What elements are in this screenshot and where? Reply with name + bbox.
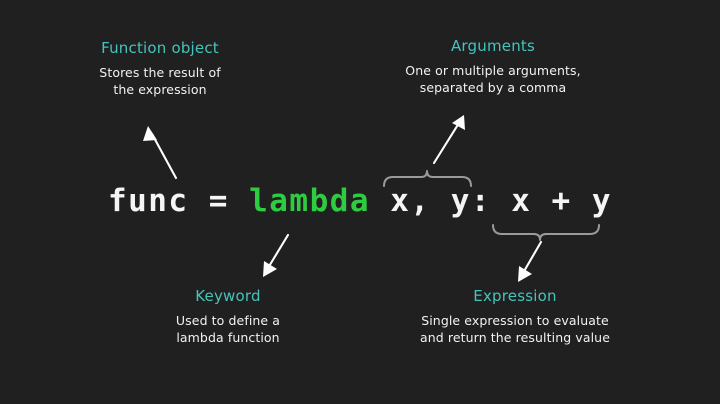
annotation-heading-expression: Expression	[386, 286, 644, 306]
annotation-description-arguments: One or multiple arguments, separated by …	[368, 63, 618, 97]
annotation-heading-function-object: Function object	[40, 38, 280, 58]
annotation-description-keyword: Used to define a lambda function	[128, 313, 328, 347]
expression-brace	[493, 225, 599, 240]
description-line: separated by a comma	[368, 80, 618, 97]
annotation-function-object: Function object Stores the result of the…	[40, 38, 280, 99]
code-keyword-lambda: lambda	[249, 183, 370, 219]
annotation-heading-keyword: Keyword	[128, 286, 328, 306]
description-line: Single expression to evaluate	[386, 313, 644, 330]
description-line: Used to define a	[128, 313, 328, 330]
annotation-keyword: Keyword Used to define a lambda function	[128, 286, 328, 347]
annotation-heading-arguments: Arguments	[368, 36, 618, 56]
annotation-arguments: Arguments One or multiple arguments, sep…	[368, 36, 618, 97]
description-line: lambda function	[128, 330, 328, 347]
code-segment-assignment: func =	[108, 183, 249, 219]
annotation-description-function-object: Stores the result of the expression	[40, 65, 280, 99]
lambda-syntax-diagram: Function object Stores the result of the…	[0, 0, 720, 404]
description-line: Stores the result of	[40, 65, 280, 82]
description-line: and return the resulting value	[386, 330, 644, 347]
code-segment-params-and-body: x, y: x + y	[370, 183, 612, 219]
arrow-expression	[518, 242, 541, 282]
arrow-keyword	[263, 235, 288, 277]
annotation-description-expression: Single expression to evaluate and return…	[386, 313, 644, 347]
description-line: the expression	[40, 82, 280, 99]
code-expression: func = lambda x, y: x + y	[0, 183, 720, 219]
description-line: One or multiple arguments,	[368, 63, 618, 80]
annotation-expression: Expression Single expression to evaluate…	[386, 286, 644, 347]
arrow-arguments	[434, 115, 465, 163]
arrow-function-object	[143, 126, 176, 178]
